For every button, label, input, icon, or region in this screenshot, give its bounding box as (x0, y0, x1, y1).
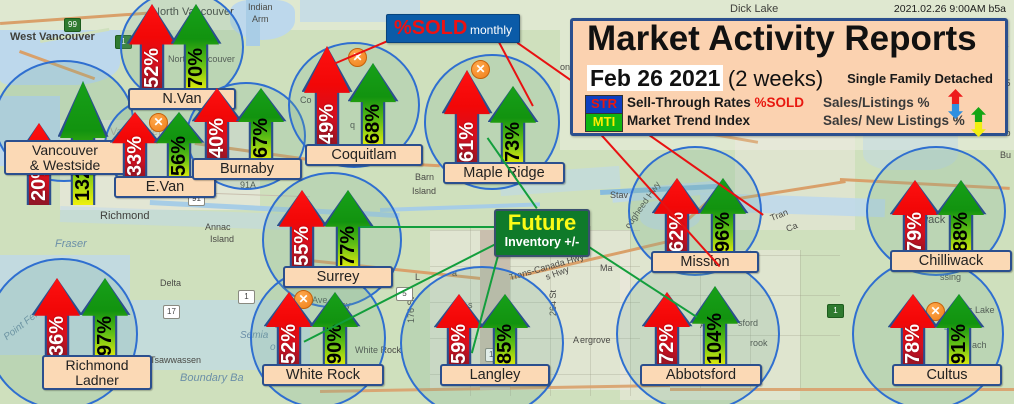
region-label-mission[interactable]: Mission (651, 251, 759, 273)
region-label-vancouver-westside[interactable]: Vancouver & Westside (4, 140, 126, 175)
region-group-coquitlam[interactable]: 49% 68% (300, 44, 408, 148)
region-label-line2: Ladner (75, 372, 119, 388)
mti-arrow-abbotsford[interactable]: 104% (692, 286, 738, 368)
str-value-nvan: 52% (141, 48, 164, 88)
region-label-line1: Mission (680, 254, 729, 270)
region-label-line1: Coquitlam (331, 147, 396, 163)
region-label-surrey[interactable]: Surrey (283, 266, 393, 288)
region-group-chilliwack[interactable]: 79% 88% (888, 178, 996, 256)
region-label-abbotsford[interactable]: Abbotsford (640, 364, 762, 386)
str-value-cultus: 78% (902, 324, 925, 364)
mti-value-nvan: 70% (185, 48, 208, 88)
mti-value-evan: 56% (168, 136, 191, 176)
mti-value-surrey: 77% (337, 226, 360, 266)
str-arrow-nvan[interactable]: 52% (129, 4, 175, 92)
report-period: (2 weeks) (728, 66, 823, 91)
region-group-richmond-ladner[interactable]: 36% 97% (30, 276, 140, 360)
legend-name-str-row: Sell-Through Rates %SOLD (627, 95, 804, 110)
legend-formula-str: Sales/Listings % (823, 95, 930, 110)
legend-name-str: Sell-Through Rates (627, 95, 751, 110)
region-label-line1: Richmond (65, 357, 128, 373)
region-group-maple-ridge[interactable]: 61% 73% (440, 68, 548, 166)
str-value-surrey: 55% (291, 226, 314, 266)
str-value-langley: 59% (448, 324, 471, 364)
callout-sold-primary: %SOLD (394, 17, 467, 40)
arrow-up-icon (948, 89, 963, 104)
region-group-white-rock[interactable]: 52% 90% (262, 290, 370, 368)
str-value-maple-ridge: 61% (456, 122, 479, 162)
legend-arrow-mti-icon (971, 107, 986, 137)
callout-future-primary: Future (496, 210, 588, 236)
str-arrow-chilliwack[interactable]: 79% (892, 180, 938, 256)
market-activity-map: West Vancouver North Vancouver North Van… (0, 0, 1014, 404)
region-label-line1: Abbotsford (666, 367, 736, 383)
report-header-panel: Market Activity Reports Feb 26 2021 (2 w… (570, 18, 1008, 136)
region-label-coquitlam[interactable]: Coquitlam (305, 144, 423, 166)
str-value-white-rock: 52% (278, 324, 301, 364)
legend-badge-mti: MTI (585, 113, 623, 132)
region-label-cultus[interactable]: Cultus (892, 364, 1002, 386)
legend-tag-str: %SOLD (755, 95, 805, 110)
str-value-chilliwack: 79% (904, 212, 927, 252)
region-group-nvan[interactable]: 52% 70% (125, 2, 229, 92)
mti-value-richmond-ladner: 97% (94, 316, 117, 356)
region-label-line1: E.Van (146, 179, 184, 195)
region-label-richmond-ladner[interactable]: Richmond Ladner (42, 355, 152, 390)
region-label-line2: & Westside (30, 157, 101, 173)
mti-value-burnaby: 67% (250, 118, 273, 158)
region-group-vancouver-westside[interactable]: 20% 132% (8, 60, 118, 205)
region-label-line1: Langley (470, 367, 521, 383)
region-label-line1: Maple Ridge (463, 165, 544, 181)
mti-value-abbotsford: 104% (704, 313, 727, 364)
arrow-up-icon (971, 107, 986, 122)
region-label-line1: Surrey (317, 269, 360, 285)
str-value-evan: 33% (124, 136, 147, 176)
report-date-row: Feb 26 2021 (2 weeks) (587, 65, 823, 92)
leader-future-to-surrey (360, 226, 494, 228)
page-title: Market Activity Reports (587, 19, 977, 59)
region-group-surrey[interactable]: 55% 77% (275, 188, 383, 270)
region-label-white-rock[interactable]: White Rock (262, 364, 384, 386)
timestamp: 2021.02.26 9:00AM b5a (894, 3, 1006, 15)
mti-arrow-cultus[interactable]: 91% (936, 294, 982, 368)
legend-arrow-str-icon (948, 89, 963, 119)
region-label-burnaby[interactable]: Burnaby (192, 158, 302, 180)
mti-arrow-white-rock[interactable]: 90% (312, 292, 358, 368)
str-arrow-surrey[interactable]: 55% (279, 190, 325, 270)
report-date: Feb 26 2021 (587, 65, 723, 91)
callout-future-secondary: Inventory +/- (496, 235, 588, 249)
str-arrow-cultus[interactable]: 78% (890, 294, 936, 368)
mti-arrow-mission[interactable]: 96% (700, 178, 746, 256)
str-arrow-coquitlam[interactable]: 49% (304, 46, 350, 148)
mti-value-cultus: 91% (948, 324, 971, 364)
str-arrow-langley[interactable]: 59% (436, 294, 482, 368)
mti-arrow-burnaby[interactable]: 67% (238, 88, 284, 162)
region-label-chilliwack[interactable]: Chilliwack (890, 250, 1012, 272)
region-label-line1: Vancouver (32, 142, 98, 158)
str-value-richmond-ladner: 36% (46, 316, 69, 356)
str-arrow-richmond-ladner[interactable]: 36% (34, 278, 80, 360)
mti-arrow-chilliwack[interactable]: 88% (938, 180, 984, 256)
str-arrow-maple-ridge[interactable]: 61% (444, 70, 490, 166)
str-value-abbotsford: 72% (656, 324, 679, 364)
mti-value-mission: 96% (712, 212, 735, 252)
mti-value-maple-ridge: 73% (502, 122, 525, 162)
mti-arrow-richmond-ladner[interactable]: 97% (82, 278, 128, 360)
str-arrow-evan[interactable]: 33% (112, 112, 158, 180)
region-group-abbotsford[interactable]: 72% 104% (640, 290, 752, 368)
mti-arrow-nvan[interactable]: 70% (173, 4, 219, 92)
region-label-maple-ridge[interactable]: Maple Ridge (443, 162, 565, 184)
str-arrow-white-rock[interactable]: 52% (266, 292, 312, 368)
mti-value-chilliwack: 88% (950, 212, 973, 252)
mti-arrow-coquitlam[interactable]: 68% (350, 63, 396, 148)
region-group-mission[interactable]: 62% 96% (650, 176, 754, 256)
str-arrow-burnaby[interactable]: 40% (194, 88, 240, 162)
str-value-coquitlam: 49% (316, 104, 339, 144)
region-label-line1: Burnaby (220, 161, 274, 177)
str-arrow-abbotsford[interactable]: 72% (644, 292, 690, 368)
region-label-langley[interactable]: Langley (440, 364, 550, 386)
mti-arrow-langley[interactable]: 85% (482, 294, 528, 368)
mti-arrow-surrey[interactable]: 77% (325, 190, 371, 270)
mti-value-langley: 85% (494, 324, 517, 364)
arrow-down-icon (971, 122, 986, 137)
arrow-down-icon (948, 104, 963, 119)
region-label-line1: Chilliwack (919, 253, 983, 269)
legend-badge-str: STR (585, 95, 623, 114)
region-group-cultus[interactable]: 78% 91% (886, 292, 994, 368)
legend-name-mti: Market Trend Index (627, 113, 750, 128)
property-type: Single Family Detached (847, 71, 993, 86)
region-label-line1: Cultus (926, 367, 967, 383)
str-value-burnaby: 40% (206, 118, 229, 158)
callout-sold-secondary: monthly (470, 23, 512, 37)
callout-future[interactable]: Future Inventory +/- (494, 209, 590, 257)
mti-value-coquitlam: 68% (362, 104, 385, 144)
legend-formula-mti: Sales/ New Listings % (823, 113, 965, 128)
region-group-burnaby[interactable]: 40% 67% (190, 86, 294, 162)
callout-sold[interactable]: %SOLD monthly (386, 14, 520, 43)
region-label-line1: White Rock (286, 367, 360, 383)
